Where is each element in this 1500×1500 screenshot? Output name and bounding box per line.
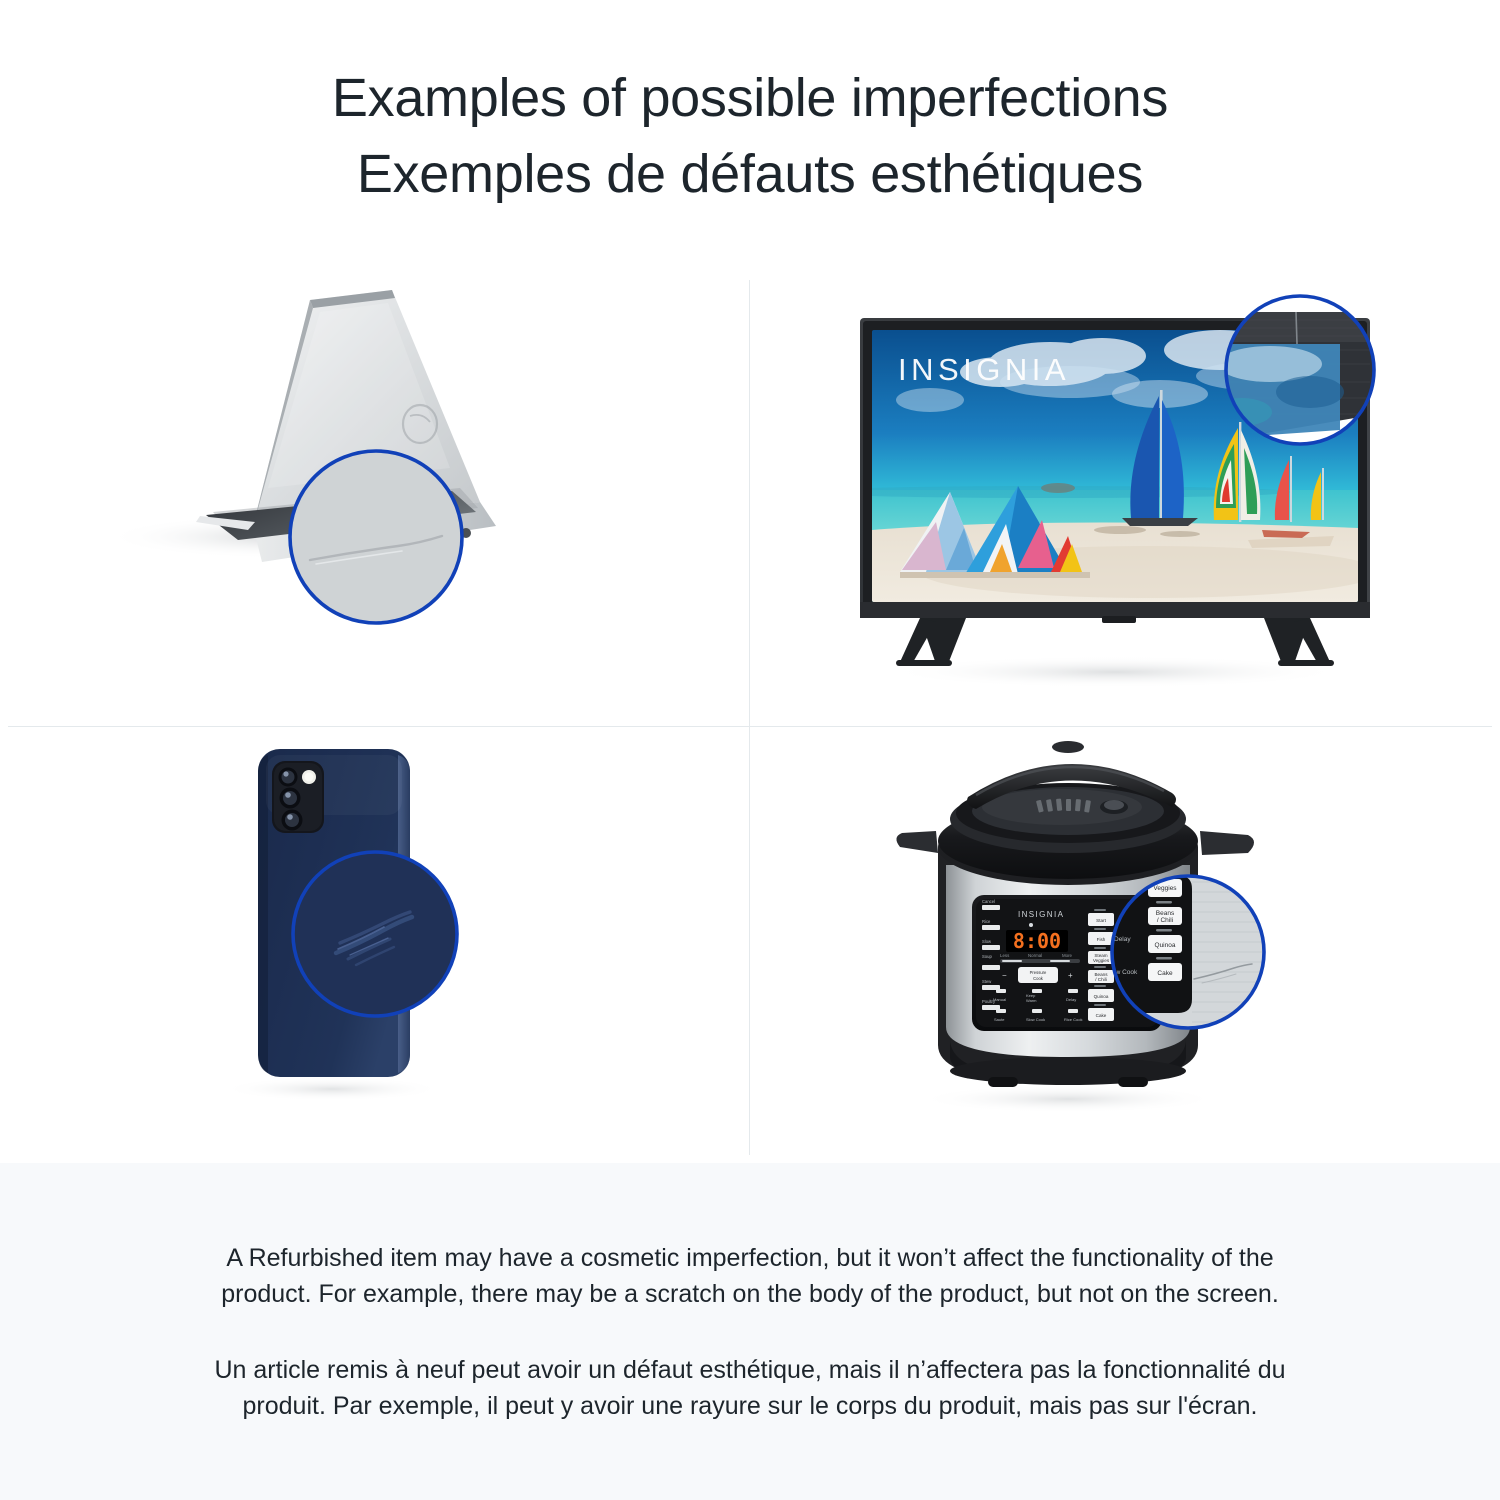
svg-text:Delay: Delay bbox=[1066, 997, 1076, 1002]
svg-text:Cancel: Cancel bbox=[982, 899, 995, 904]
cooker-brand-text: INSIGNIA bbox=[1018, 910, 1064, 919]
page-header: Examples of possible imperfections Exemp… bbox=[0, 0, 1500, 272]
svg-text:Saute: Saute bbox=[994, 1017, 1005, 1022]
svg-text:Veggies: Veggies bbox=[1153, 885, 1177, 892]
svg-text:Slow Cook: Slow Cook bbox=[1026, 1017, 1045, 1022]
svg-text:Stew: Stew bbox=[982, 979, 992, 984]
footer-paragraph-english: A Refurbished item may have a cosmetic i… bbox=[185, 1240, 1315, 1312]
page-footer: A Refurbished item may have a cosmetic i… bbox=[0, 1163, 1500, 1500]
laptop-panel bbox=[0, 272, 749, 726]
svg-text:Rice Cook: Rice Cook bbox=[1064, 1017, 1082, 1022]
svg-text:Cook: Cook bbox=[1033, 976, 1044, 981]
svg-text:Soup: Soup bbox=[982, 954, 992, 959]
pressure-cooker-panel: INSIGNIA 8:00 Less Normal More Pressure … bbox=[750, 727, 1500, 1163]
svg-text:Pressure: Pressure bbox=[1030, 970, 1047, 975]
svg-text:/ Chili: / Chili bbox=[1095, 977, 1107, 982]
magnifier-phone bbox=[293, 852, 457, 1016]
phone-panel bbox=[0, 727, 749, 1163]
svg-text:Cake: Cake bbox=[1096, 1013, 1107, 1018]
svg-text:Manual: Manual bbox=[993, 997, 1006, 1002]
laptop-illustration bbox=[0, 272, 749, 726]
camera-module bbox=[272, 761, 324, 833]
tv-illustration: INSIGNIA bbox=[750, 272, 1500, 726]
footer-paragraph-french: Un article remis à neuf peut avoir un dé… bbox=[185, 1352, 1315, 1424]
cooker-display-value: 8:00 bbox=[1013, 929, 1061, 953]
svg-text:Beans: Beans bbox=[1156, 910, 1175, 917]
svg-text:+: + bbox=[1068, 971, 1073, 980]
svg-text:Cake: Cake bbox=[1157, 970, 1173, 977]
svg-text:Quinoa: Quinoa bbox=[1094, 994, 1109, 999]
svg-text:Fish: Fish bbox=[1097, 937, 1106, 942]
svg-text:/ Chili: / Chili bbox=[1157, 917, 1173, 924]
svg-text:Veggies: Veggies bbox=[1093, 958, 1110, 963]
phone-illustration bbox=[0, 727, 749, 1163]
svg-text:Slow: Slow bbox=[982, 939, 992, 944]
svg-text:Quinoa: Quinoa bbox=[1155, 942, 1176, 949]
tv-panel: INSIGNIA bbox=[750, 272, 1500, 726]
svg-text:Start: Start bbox=[1096, 918, 1106, 923]
svg-text:Rice: Rice bbox=[982, 919, 991, 924]
page-title-french: Exemples de défauts esthétiques bbox=[357, 136, 1143, 212]
svg-text:Delay: Delay bbox=[1114, 936, 1131, 943]
svg-text:Normal: Normal bbox=[1028, 953, 1042, 958]
magnifier-cooker: Veggies Beans / Chili Quinoa Cake Delay … bbox=[1112, 876, 1270, 1028]
svg-text:−: − bbox=[1002, 971, 1007, 980]
svg-text:Warm: Warm bbox=[1026, 998, 1037, 1003]
svg-text:Less: Less bbox=[1000, 953, 1010, 958]
cooker-illustration: INSIGNIA 8:00 Less Normal More Pressure … bbox=[750, 727, 1500, 1163]
examples-grid: INSIGNIA bbox=[0, 272, 1500, 1163]
svg-text:More: More bbox=[1062, 953, 1073, 958]
insignia-screen-logo: INSIGNIA bbox=[898, 352, 1070, 387]
page-title-english: Examples of possible imperfections bbox=[332, 60, 1168, 136]
